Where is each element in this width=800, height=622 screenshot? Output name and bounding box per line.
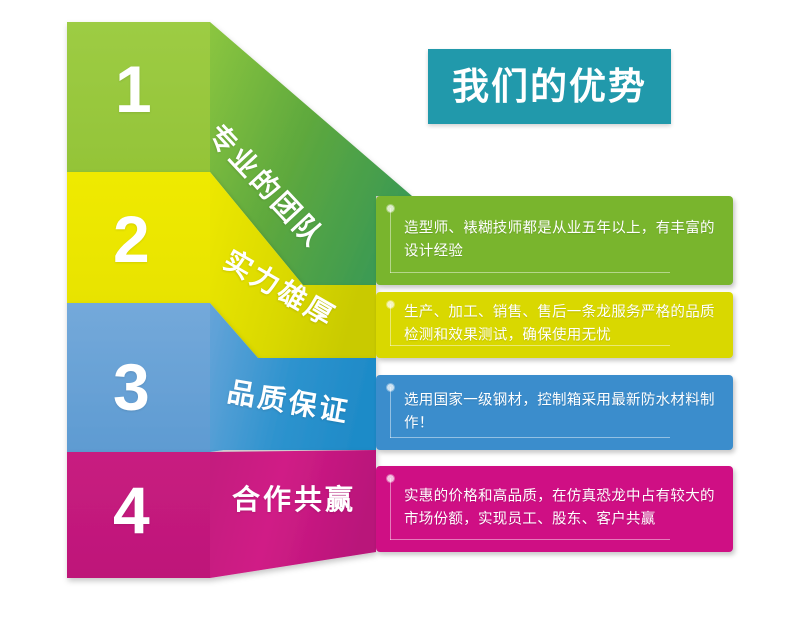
step-number-1: 1 <box>115 56 152 122</box>
step-number-2: 2 <box>113 206 150 272</box>
description-text-1: 造型师、裱糊技师都是从业五年以上，有丰富的设计经验 <box>404 217 715 264</box>
description-panel-4[interactable]: 实惠的价格和高品质，在仿真恐龙中占有较大的市场份额，实现员工、股东、客户共赢 <box>376 466 733 552</box>
accent-foot-line <box>390 539 670 540</box>
description-panel-1[interactable]: 造型师、裱糊技师都是从业五年以上，有丰富的设计经验 <box>376 196 733 285</box>
description-text-4: 实惠的价格和高品质，在仿真恐龙中占有较大的市场份额，实现员工、股东、客户共赢 <box>404 486 715 533</box>
bracket-accent-icon <box>390 208 391 273</box>
accent-foot-line <box>390 272 670 273</box>
step-number-4: 4 <box>113 477 150 543</box>
description-text-3: 选用国家一级钢材，控制箱采用最新防水材料制作！ <box>404 389 715 436</box>
bracket-accent-icon <box>390 304 391 346</box>
description-panel-3[interactable]: 选用国家一级钢材，控制箱采用最新防水材料制作！ <box>376 375 733 450</box>
accent-dot-icon <box>387 205 394 212</box>
title-banner: 我们的优势 <box>428 49 671 124</box>
description-panel-2[interactable]: 生产、加工、销售、售后一条龙服务严格的品质检测和效果测试，确保使用无忧 <box>376 292 733 358</box>
page-title: 我们的优势 <box>452 68 647 105</box>
ribbon-label-4: 合作共赢 <box>232 486 356 514</box>
bracket-accent-icon <box>390 478 391 540</box>
infographic-canvas: 我们的优势 1 2 3 4 专业的团队 实力雄厚 品质保证 合作共赢 造型师、裱… <box>0 0 800 622</box>
step-number-3: 3 <box>113 354 150 420</box>
description-text-2: 生产、加工、销售、售后一条龙服务严格的品质检测和效果测试，确保使用无忧 <box>404 302 715 349</box>
bracket-accent-icon <box>390 387 391 438</box>
accent-dot-icon <box>387 301 394 308</box>
accent-dot-icon <box>387 475 394 482</box>
accent-dot-icon <box>387 384 394 391</box>
accent-foot-line <box>390 437 670 438</box>
